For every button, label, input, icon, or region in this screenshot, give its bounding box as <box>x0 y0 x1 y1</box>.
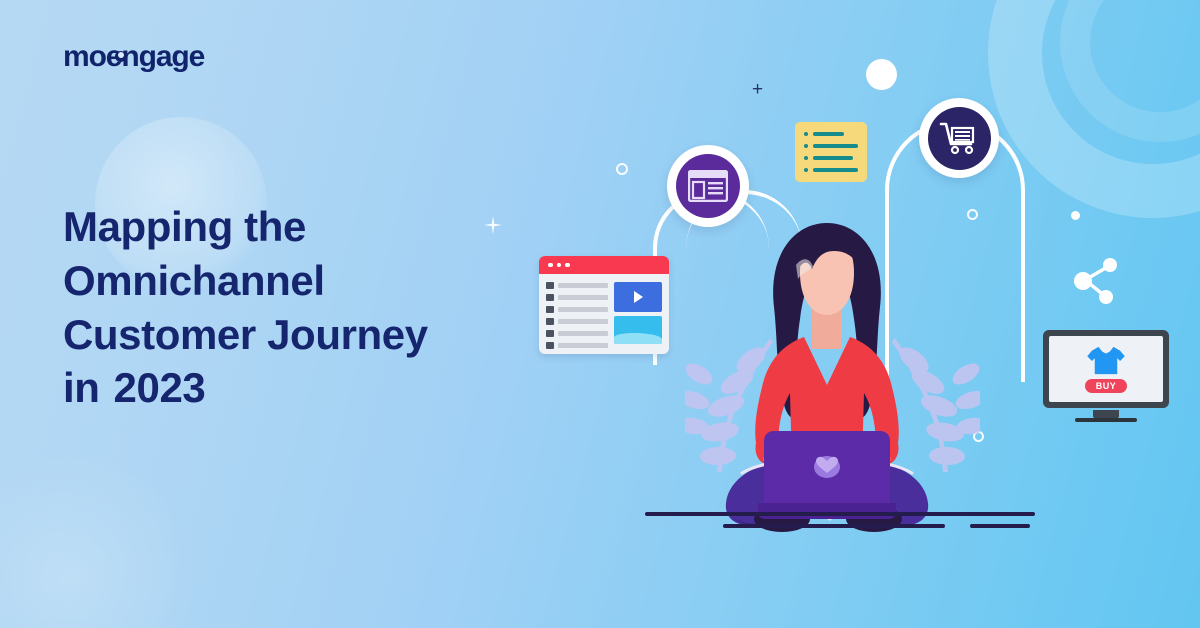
checklist-bullet-icon <box>804 168 808 172</box>
web-layout-glyph <box>688 170 728 202</box>
share-icon[interactable] <box>1065 252 1125 310</box>
headline-preposition: in <box>63 364 100 411</box>
ring-dot-decoration-1 <box>616 163 628 175</box>
ground-line-tertiary <box>970 524 1030 528</box>
list-item-marker <box>546 318 554 325</box>
monitor-screen: BUY <box>1043 330 1169 408</box>
product-monitor[interactable]: BUY <box>1043 330 1169 430</box>
ground-line-primary <box>645 512 1035 516</box>
browser-list <box>546 282 608 349</box>
list-item-marker <box>546 306 554 313</box>
checklist-bar <box>813 132 844 136</box>
checklist-bar <box>813 156 853 160</box>
list-item-marker <box>546 282 554 289</box>
browser-window[interactable] <box>539 256 669 354</box>
white-circle-decoration <box>866 59 897 90</box>
checklist-bar <box>813 168 858 172</box>
checklist-row <box>804 168 858 172</box>
list-item <box>546 318 608 325</box>
buy-button[interactable]: BUY <box>1085 379 1128 393</box>
checklist-row <box>804 132 858 136</box>
browser-dot-icon <box>565 263 570 268</box>
shopping-cart-icon-circle <box>928 107 991 170</box>
cart-glyph <box>939 121 979 155</box>
video-player[interactable] <box>614 282 662 312</box>
list-item-bar <box>558 307 608 312</box>
browser-body <box>539 274 669 354</box>
browser-dot-icon <box>557 263 562 268</box>
seated-person-with-laptop <box>682 215 972 535</box>
browser-dot-icon <box>548 263 553 268</box>
checklist-bar <box>813 144 858 148</box>
banner: moengage Mapping the Omnichannel Custome… <box>0 0 1200 628</box>
illustration: + <box>470 0 1200 628</box>
list-item-bar <box>558 331 608 336</box>
browser-titlebar <box>539 256 669 274</box>
sparkle-icon <box>484 216 502 234</box>
tshirt-icon <box>1085 345 1127 375</box>
monitor-neck <box>1093 410 1119 418</box>
list-item <box>546 330 608 337</box>
checklist-bullet-icon <box>804 132 808 136</box>
background-blob-bottom-left <box>0 448 200 628</box>
logo-wordmark: moengage <box>63 40 204 74</box>
monitor-base <box>1075 418 1137 422</box>
browser-media <box>614 282 662 349</box>
list-item-marker <box>546 342 554 349</box>
list-item-bar <box>558 295 608 300</box>
list-item <box>546 306 608 313</box>
solid-dot-decoration <box>1071 211 1080 220</box>
moengage-logo[interactable]: moengage <box>63 40 204 74</box>
list-item-bar <box>558 319 608 324</box>
web-page-icon-circle <box>676 154 740 218</box>
image-thumbnail <box>614 316 662 344</box>
list-item-bar <box>558 283 608 288</box>
list-item <box>546 282 608 289</box>
checklist-bullet-icon <box>804 156 808 160</box>
checklist-row <box>804 156 858 160</box>
logo-eye-icon <box>115 51 126 62</box>
checklist-card <box>795 122 867 182</box>
list-item-marker <box>546 294 554 301</box>
monitor-viewport: BUY <box>1049 336 1163 402</box>
checklist-bullet-icon <box>804 144 808 148</box>
shopping-cart-icon[interactable] <box>919 98 999 178</box>
list-item <box>546 342 608 349</box>
ground-line-secondary <box>723 524 945 528</box>
list-item-bar <box>558 343 608 348</box>
play-icon <box>634 291 643 303</box>
list-item <box>546 294 608 301</box>
headline-year: 2023 <box>114 364 206 411</box>
list-item-marker <box>546 330 554 337</box>
checklist-row <box>804 144 858 148</box>
plus-decoration: + <box>752 80 763 99</box>
